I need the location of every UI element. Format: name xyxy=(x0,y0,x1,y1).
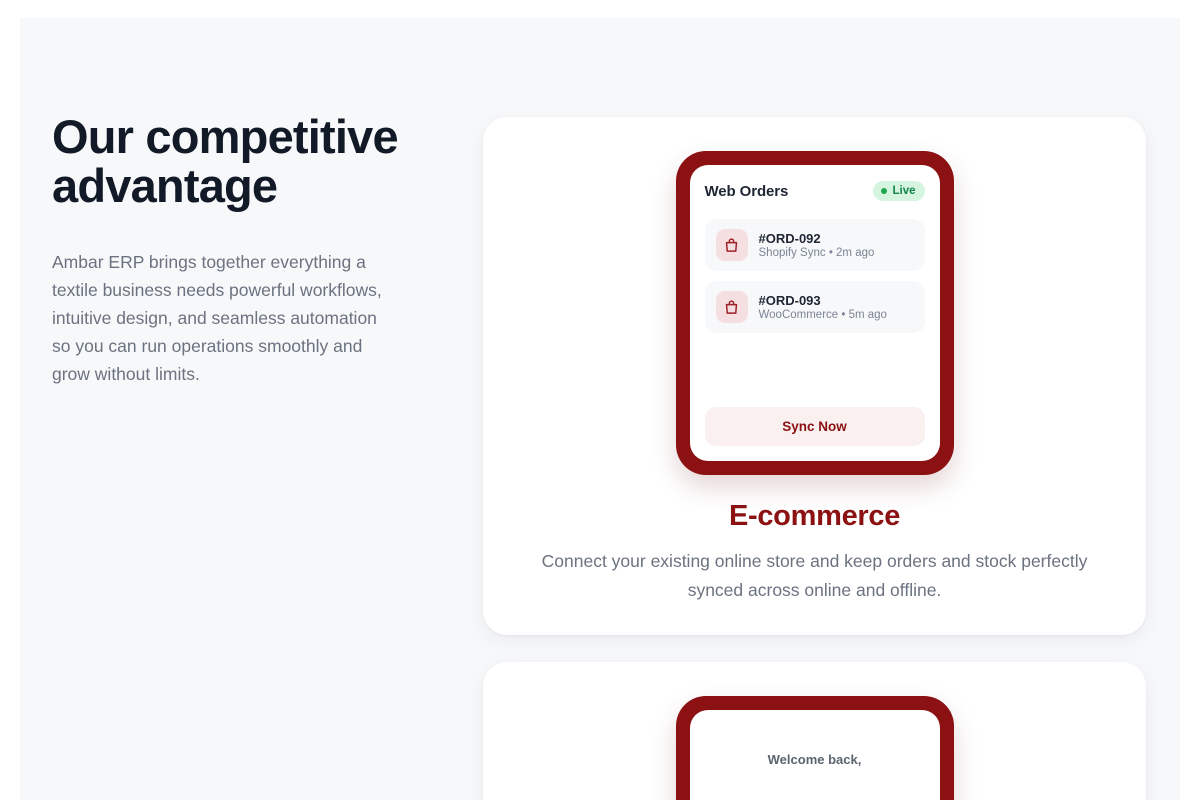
page-title: Our competitive advantage xyxy=(52,112,412,210)
hero-subcopy: Ambar ERP brings together everything a t… xyxy=(52,248,392,388)
content-canvas: Our competitive advantage Ambar ERP brin… xyxy=(20,18,1180,800)
page-root: Our competitive advantage Ambar ERP brin… xyxy=(0,0,1200,800)
screen-spacer xyxy=(705,343,925,407)
list-item-text: #ORD-092 Shopify Sync • 2m ago xyxy=(759,231,875,259)
phone-screen-title: Web Orders xyxy=(705,183,789,200)
feature-card-list: Web Orders Live xyxy=(483,117,1146,800)
sync-now-button[interactable]: Sync Now xyxy=(705,407,925,446)
phone-mockup-ecommerce: Web Orders Live xyxy=(676,151,954,475)
phone-screen: Web Orders Live xyxy=(690,165,940,461)
list-item-text: #ORD-093 WooCommerce • 5m ago xyxy=(759,293,887,321)
phone-welcome-text: Welcome back, xyxy=(705,726,925,767)
phone-mockup-next: Welcome back, xyxy=(676,696,954,800)
order-id: #ORD-093 xyxy=(759,293,887,308)
phone-screen: Welcome back, xyxy=(690,710,940,800)
status-badge-label: Live xyxy=(892,185,915,197)
order-meta: Shopify Sync • 2m ago xyxy=(759,247,875,259)
feature-card-title: E-commerce xyxy=(509,499,1120,533)
order-id: #ORD-092 xyxy=(759,231,875,246)
green-dot-icon xyxy=(881,188,887,194)
phone-screen-header: Web Orders Live xyxy=(705,181,925,201)
list-item[interactable]: #ORD-092 Shopify Sync • 2m ago xyxy=(705,219,925,271)
shopping-bag-icon xyxy=(716,291,748,323)
shopping-bag-icon xyxy=(716,229,748,261)
list-item[interactable]: #ORD-093 WooCommerce • 5m ago xyxy=(705,281,925,333)
hero-text-column: Our competitive advantage Ambar ERP brin… xyxy=(52,112,412,388)
feature-card-description: Connect your existing online store and k… xyxy=(525,547,1105,605)
order-meta: WooCommerce • 5m ago xyxy=(759,309,887,321)
status-badge: Live xyxy=(873,181,924,201)
feature-card-ecommerce[interactable]: Web Orders Live xyxy=(483,117,1146,635)
feature-card-next[interactable]: Welcome back, xyxy=(483,662,1146,800)
